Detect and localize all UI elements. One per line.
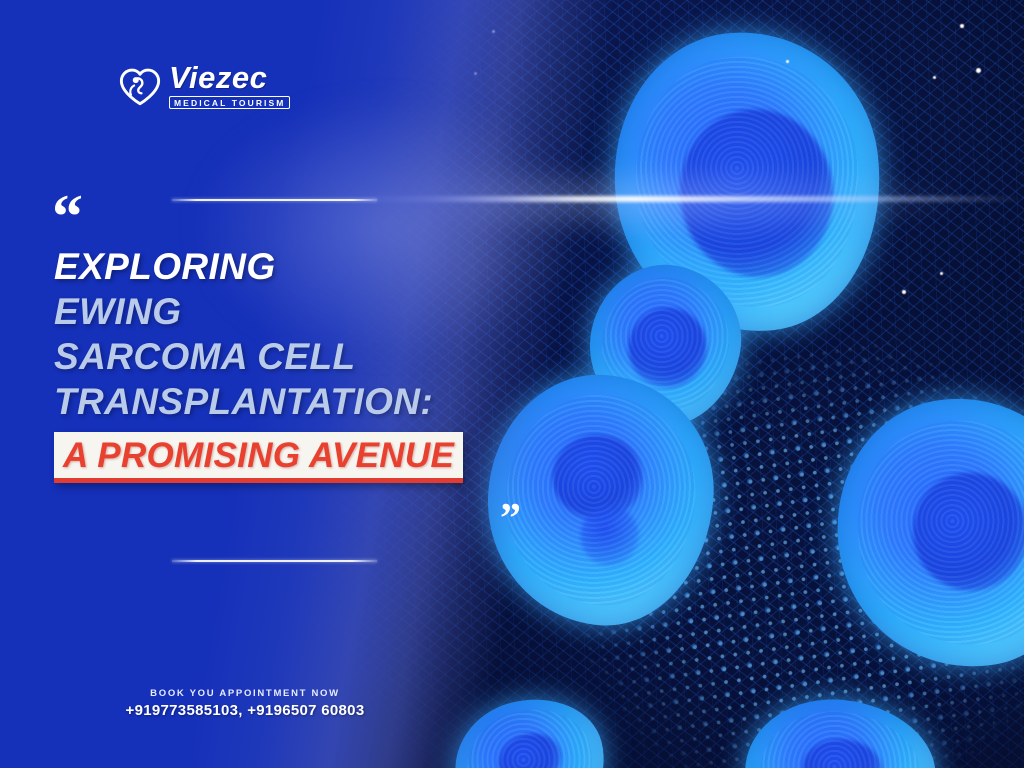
headline-line-2: EWING <box>54 289 524 334</box>
headline-highlight-text: A PROMISING AVENUE <box>63 437 454 475</box>
cta-phone-numbers[interactable]: +919773585103, +9196507 60803 <box>100 702 390 719</box>
heart-embryo-icon <box>118 66 162 106</box>
headline-line-1: EXPLORING <box>54 244 524 289</box>
quote-close-icon: ” <box>500 498 521 540</box>
brand-tagline: MEDICAL TOURISM <box>169 96 290 109</box>
brand-logo[interactable]: Viezec MEDICAL TOURISM <box>118 62 290 109</box>
headline-line-3: SARCOMA CELL <box>54 334 524 379</box>
cta-label: BOOK YOU APPOINTMENT NOW <box>100 688 390 699</box>
headline-highlight-box: A PROMISING AVENUE <box>54 432 463 483</box>
headline-block: EXPLORING EWING SARCOMA CELL TRANSPLANTA… <box>54 244 524 483</box>
divider-line-bottom <box>172 560 377 562</box>
brand-name: Viezec <box>169 62 267 93</box>
headline-line-4: TRANSPLANTATION: <box>54 379 524 424</box>
banner-canvas: Viezec MEDICAL TOURISM “ ” EXPLORING EWI… <box>0 0 1024 768</box>
cta-block: BOOK YOU APPOINTMENT NOW +919773585103, … <box>100 688 390 719</box>
quote-open-icon: “ <box>52 186 83 248</box>
divider-line-top <box>172 199 377 201</box>
